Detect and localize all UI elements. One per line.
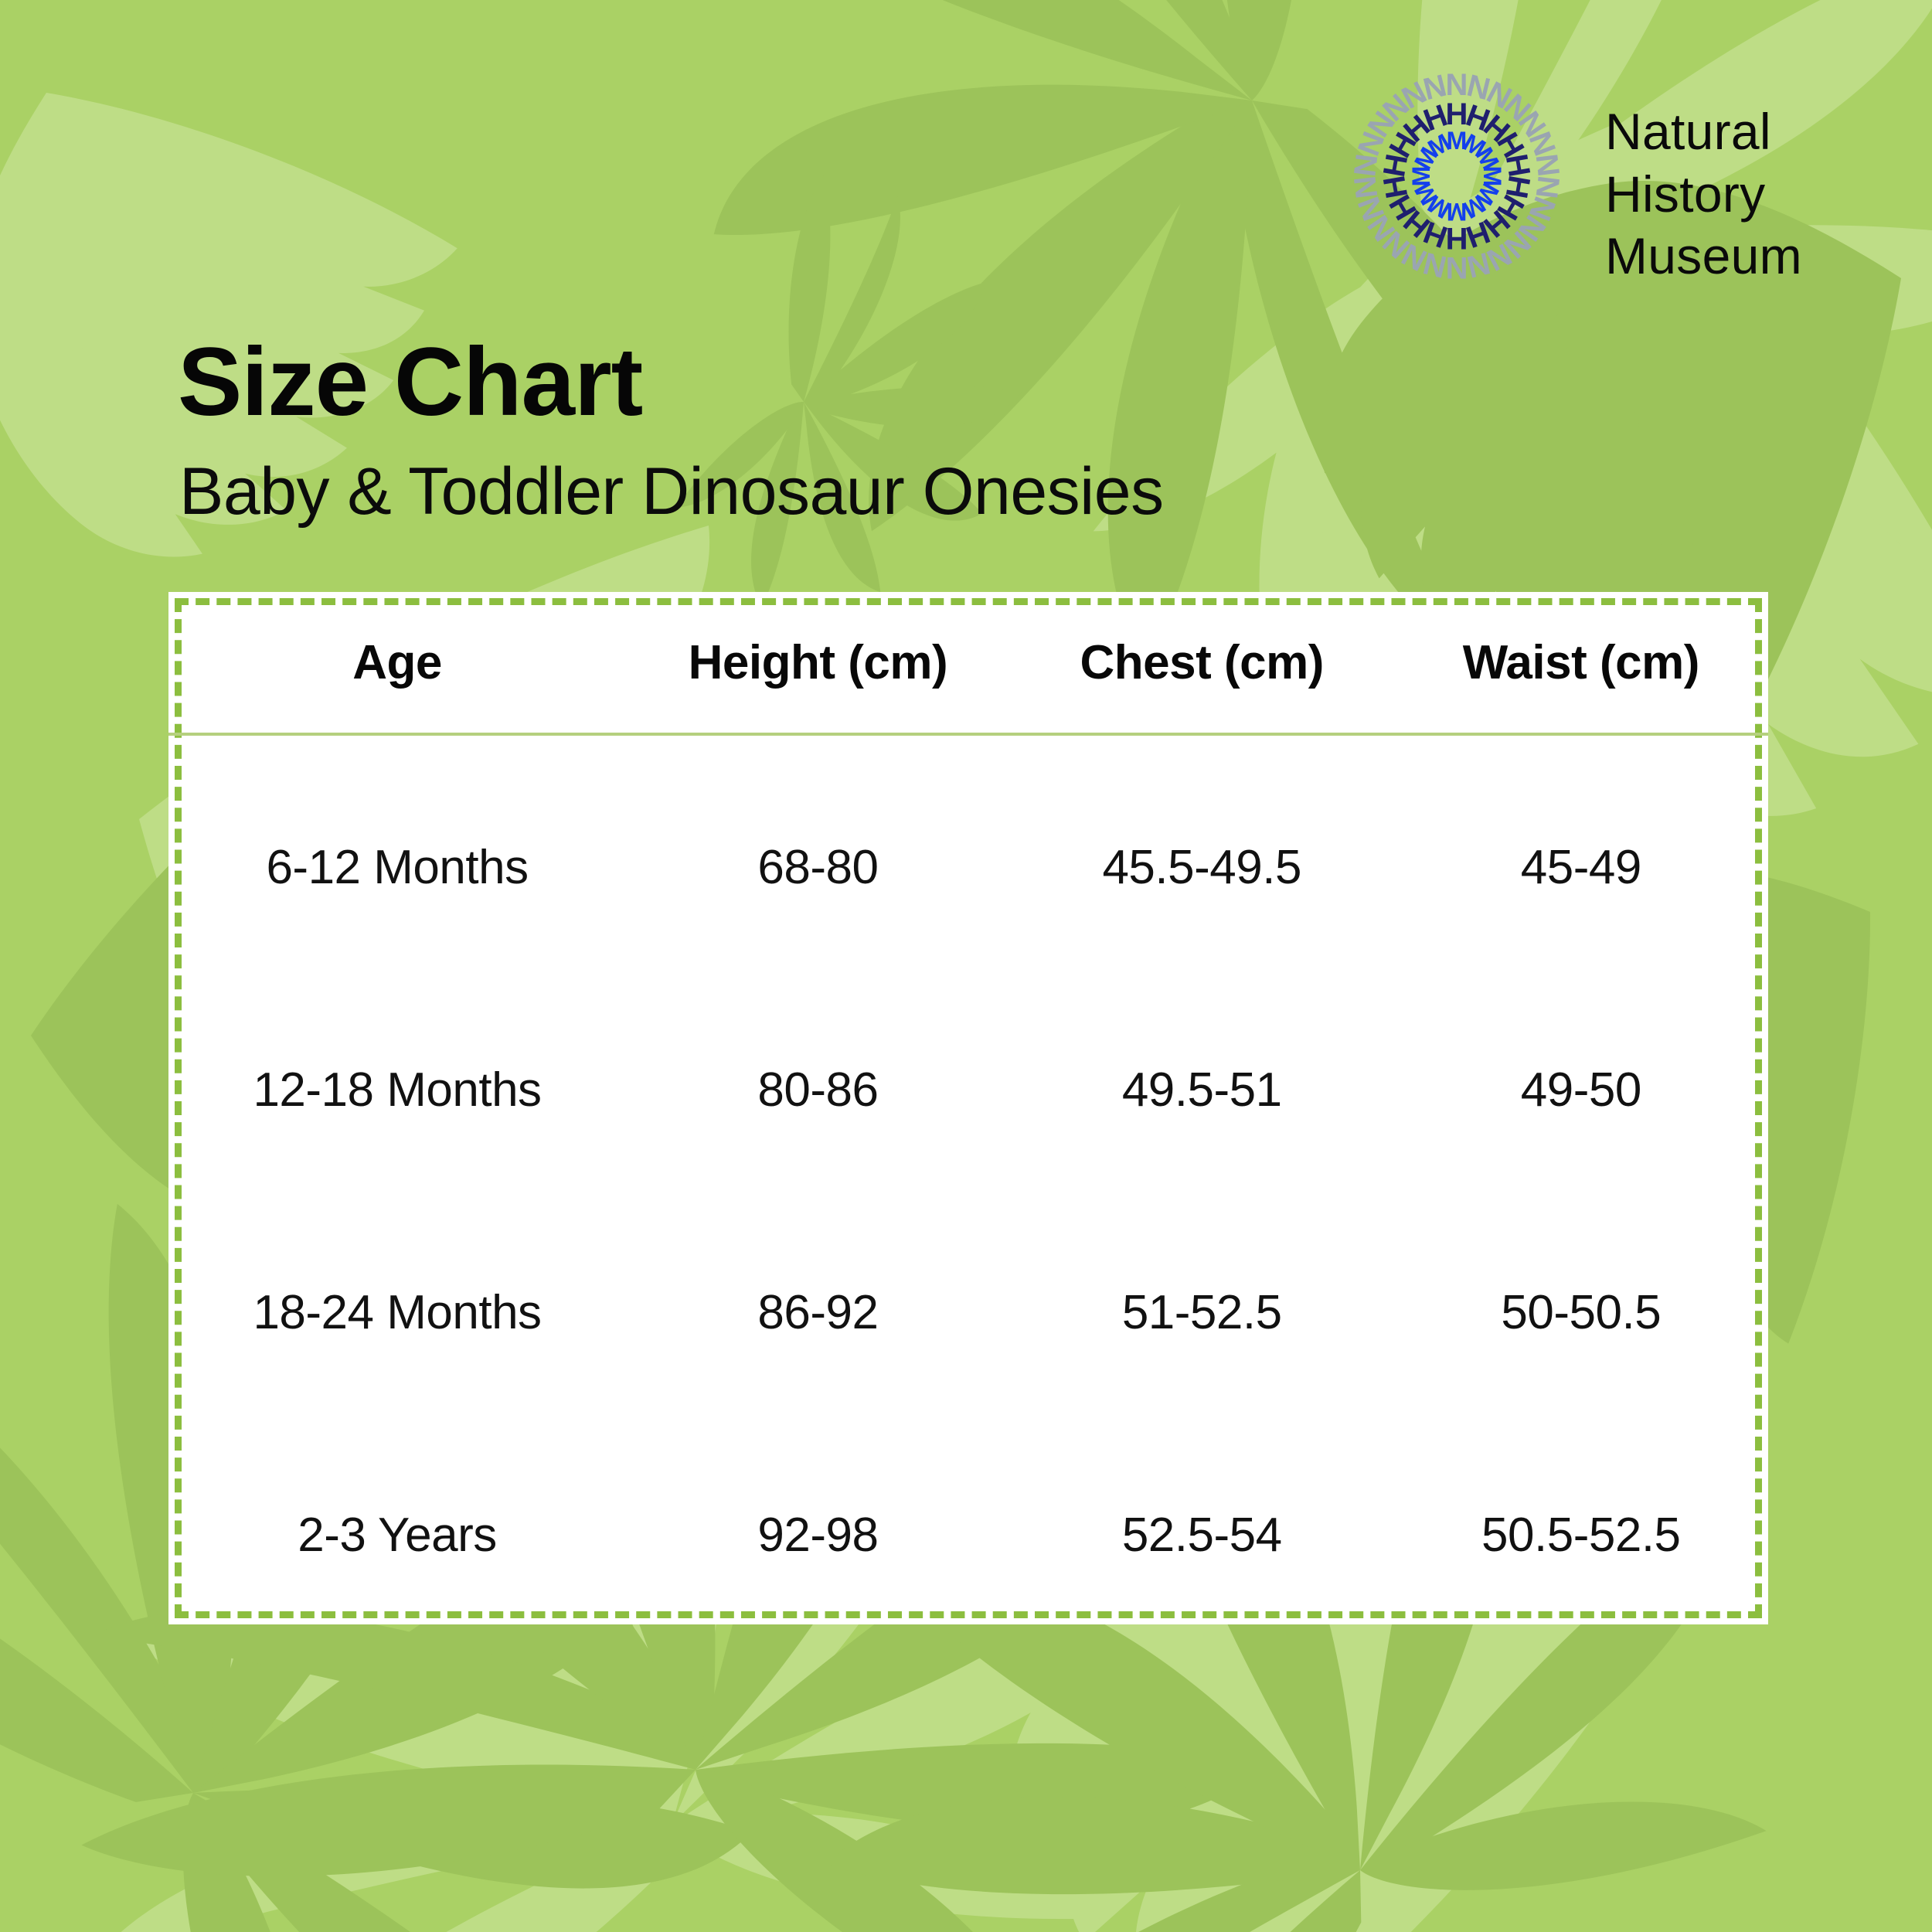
cell-waist: 50-50.5 <box>1394 1201 1768 1423</box>
cell-age: 12-18 Months <box>168 978 626 1201</box>
table-head: Age Height (cm) Chest (cm) Waist (cm) <box>168 592 1768 734</box>
size-chart-table: Age Height (cm) Chest (cm) Waist (cm) 6-… <box>168 592 1768 1646</box>
museum-logo: NNNNNNNNNNNNNNNNNNNNNNNNNN HHHHHHHHHHHHH… <box>1341 60 1889 292</box>
page-title: Size Chart <box>178 334 642 430</box>
column-header-height: Height (cm) <box>626 592 1010 734</box>
cell-height: 68-80 <box>626 734 1010 978</box>
cell-chest: 52.5-54 <box>1010 1423 1394 1646</box>
table-header-row: Age Height (cm) Chest (cm) Waist (cm) <box>168 592 1768 734</box>
museum-wordmark: Natural History Museum <box>1605 100 1802 287</box>
column-header-waist: Waist (cm) <box>1394 592 1768 734</box>
cell-chest: 49.5-51 <box>1010 978 1394 1201</box>
cell-waist: 49-50 <box>1394 978 1768 1201</box>
page-subtitle: Baby & Toddler Dinosaur Onesies <box>179 458 1164 525</box>
table-row: 18-24 Months 86-92 51-52.5 50-50.5 <box>168 1201 1768 1423</box>
cell-waist: 50.5-52.5 <box>1394 1423 1768 1646</box>
table-row: 6-12 Months 68-80 45.5-49.5 45-49 <box>168 734 1768 978</box>
size-chart-panel: Age Height (cm) Chest (cm) Waist (cm) 6-… <box>168 592 1768 1624</box>
table-row: 12-18 Months 80-86 49.5-51 49-50 <box>168 978 1768 1201</box>
wordmark-line-1: Natural <box>1605 100 1802 163</box>
nhm-starburst-logo-icon: NNNNNNNNNNNNNNNNNNNNNNNNNN HHHHHHHHHHHHH… <box>1341 60 1573 292</box>
table-row: 2-3 Years 92-98 52.5-54 50.5-52.5 <box>168 1423 1768 1646</box>
table-body: 6-12 Months 68-80 45.5-49.5 45-49 12-18 … <box>168 734 1768 1646</box>
column-header-age: Age <box>168 592 626 734</box>
cell-waist: 45-49 <box>1394 734 1768 978</box>
cell-age: 6-12 Months <box>168 734 626 978</box>
cell-chest: 45.5-49.5 <box>1010 734 1394 978</box>
cell-height: 92-98 <box>626 1423 1010 1646</box>
cell-height: 86-92 <box>626 1201 1010 1423</box>
cell-chest: 51-52.5 <box>1010 1201 1394 1423</box>
column-header-chest: Chest (cm) <box>1010 592 1394 734</box>
cell-age: 2-3 Years <box>168 1423 626 1646</box>
cell-height: 80-86 <box>626 978 1010 1201</box>
cell-age: 18-24 Months <box>168 1201 626 1423</box>
wordmark-line-2: History <box>1605 163 1802 226</box>
wordmark-line-3: Museum <box>1605 225 1802 287</box>
